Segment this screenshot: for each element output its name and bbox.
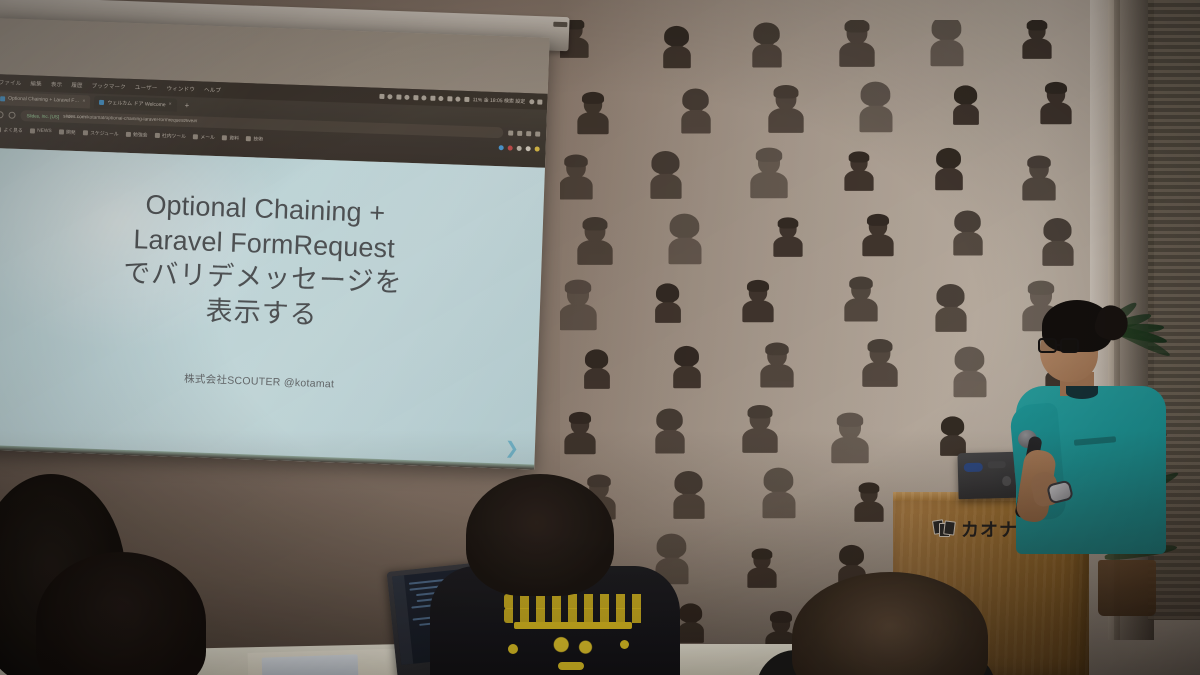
silhouette-hair [765, 342, 789, 355]
menubar-status-text: 11% 金 18:05 検索 設定 [473, 96, 526, 105]
bookmark-label-2: 開発 [66, 128, 76, 135]
menu-item-view[interactable]: 表示 [51, 80, 63, 88]
folder-icon [126, 131, 131, 136]
silhouette-hair [954, 85, 977, 104]
silhouette-hair [583, 217, 608, 231]
silhouette-body [862, 234, 893, 256]
overflow-menu-icon[interactable] [535, 131, 540, 136]
display-icon[interactable] [422, 95, 427, 100]
new-tab-button[interactable]: + [180, 100, 193, 109]
menu-item-window[interactable]: ウィンドウ [166, 84, 195, 93]
bookmark-item-3[interactable]: スケジュール [83, 129, 119, 137]
bookmark-label-7: 資料 [229, 134, 239, 141]
wall-portrait-silhouette [669, 346, 706, 390]
wall-portrait-silhouette [836, 20, 878, 69]
reload-icon[interactable] [8, 111, 15, 118]
wall-portrait-silhouette [1020, 20, 1054, 61]
bookmark-label-5: 社内ツール [162, 132, 186, 140]
extension-icon-5[interactable] [535, 146, 540, 151]
silhouette-hair [1045, 82, 1067, 94]
silhouette-body [742, 300, 773, 322]
silhouette-hair [682, 88, 708, 110]
wall-portrait-silhouette [740, 280, 777, 324]
battery-icon[interactable] [464, 96, 469, 101]
menu-item-edit[interactable]: 編集 [30, 79, 42, 87]
extensions-icon[interactable] [517, 130, 522, 135]
bookmark-item-7[interactable]: 資料 [222, 134, 239, 142]
wall-portrait-silhouette [930, 284, 972, 334]
folder-icon [222, 135, 227, 140]
profile-avatar[interactable] [526, 131, 531, 136]
slide-subtitle: 株式会社SCOUTER @kotamat [0, 364, 537, 399]
silhouette-hair [1028, 281, 1054, 295]
bookmark-item-1[interactable]: NEWS [30, 128, 52, 134]
tab-favicon-slides [0, 96, 5, 101]
silhouette-hair [564, 154, 588, 167]
wall-portrait-silhouette [659, 26, 696, 70]
silhouette-hair [674, 346, 699, 366]
silhouette-body [650, 174, 681, 199]
omnibar-actions [508, 130, 540, 136]
silhouette-hair [585, 349, 608, 368]
silhouette-body [844, 170, 873, 191]
silhouette-hair [861, 82, 891, 106]
wall-portrait-silhouette [948, 347, 992, 400]
silhouette-body [673, 366, 701, 388]
silhouette-body [935, 168, 963, 190]
silhouette-body [750, 172, 787, 198]
bookmark-label-3: スケジュール [90, 129, 119, 137]
wall-portrait-silhouette [676, 88, 715, 135]
extension-icon-2[interactable] [508, 145, 513, 150]
url-path: /kotamat/optional-chaining-laravel-formr… [86, 115, 198, 124]
bookmark-label-0: よく見る [3, 126, 22, 134]
silhouette-hair [955, 347, 985, 371]
folder-icon [59, 129, 64, 134]
silhouette-hair [1043, 218, 1071, 241]
extension-icon-3[interactable] [517, 145, 522, 150]
wall-portrait-silhouette [1038, 82, 1075, 126]
menu-item-profile[interactable]: ユーザー [135, 83, 158, 92]
silhouette-body [584, 368, 610, 389]
bluetooth-icon[interactable] [396, 94, 401, 99]
wall-portrait-silhouette [575, 92, 612, 136]
silhouette-body [1040, 102, 1071, 124]
wall-portrait-silhouette [747, 148, 791, 201]
search-icon[interactable] [529, 99, 534, 104]
wall-portrait-silhouette [1019, 155, 1058, 202]
silhouette-hair [656, 408, 682, 430]
silhouette-hair [936, 148, 961, 168]
silhouette-body [862, 362, 897, 387]
glasses-lens-right [1060, 338, 1079, 353]
silhouette-body [860, 106, 893, 132]
silhouette-body [560, 304, 597, 330]
silhouette-body [760, 364, 793, 388]
tshirt-art-row [504, 594, 644, 609]
silhouette-body [1022, 38, 1051, 59]
menu-item-history[interactable]: 履歴 [71, 81, 83, 89]
wifi-icon[interactable] [456, 96, 461, 101]
housing-end-cap [553, 22, 567, 28]
silhouette-body [839, 42, 874, 67]
silhouette-body [577, 240, 612, 265]
silhouette-hair [670, 214, 700, 238]
silhouette-body [954, 371, 987, 397]
silhouette-hair [774, 85, 799, 99]
tshirt-art-dot [620, 640, 629, 649]
silhouette-body [953, 232, 982, 256]
tshirt-art-bar [514, 622, 632, 629]
silhouette-body [844, 298, 877, 322]
silhouette-hair [569, 412, 591, 424]
wall-portrait-silhouette [854, 82, 898, 135]
wall-portrait-silhouette [747, 22, 786, 69]
silhouette-body [1042, 241, 1073, 266]
silhouette-body [655, 302, 681, 323]
silhouette-hair [753, 22, 779, 44]
extension-icon-1[interactable] [499, 145, 504, 150]
bookmark-label-1: NEWS [37, 128, 52, 134]
glasses-icon [1038, 338, 1084, 354]
silhouette-body [773, 236, 802, 257]
folder-icon [83, 130, 88, 135]
wall-portrait-silhouette [859, 339, 901, 389]
silhouette-hair [756, 148, 782, 162]
menubar-spacer [230, 90, 370, 95]
folder-icon [0, 127, 1, 132]
bookmark-item-5[interactable]: 社内ツール [154, 131, 186, 139]
silhouette-hair [954, 210, 980, 232]
wall-portrait-silhouette [948, 210, 987, 257]
wall-portrait-silhouette [757, 342, 796, 389]
folder-icon [30, 128, 35, 133]
menu-item-file[interactable]: ファイル [0, 78, 22, 87]
vpn-icon[interactable] [439, 95, 444, 100]
silhouette-body [768, 108, 803, 133]
bookmark-item-4[interactable]: 勉強会 [125, 130, 147, 138]
audience-laptop-lid [262, 654, 359, 675]
site-security-label: Slides, Inc. [US] [26, 113, 59, 119]
screenshot-icon[interactable] [413, 95, 418, 100]
wall-portrait-silhouette [560, 280, 600, 333]
wall-portrait-silhouette [925, 20, 969, 68]
presenter-collar [1066, 386, 1098, 399]
bookmark-bar-extras [499, 145, 540, 151]
wall-portrait-silhouette [860, 214, 897, 258]
silhouette-body [560, 176, 593, 200]
bookmark-label-6: メール [200, 133, 215, 141]
slide-title: Optional Chaining + Laravel FormRequest … [0, 182, 544, 340]
tshirt-art-dot [558, 662, 584, 670]
back-icon[interactable] [0, 111, 4, 118]
bookmark-item-6[interactable]: メール [193, 133, 215, 141]
tab-close-icon-2[interactable]: × [169, 101, 172, 107]
browser-tab-active[interactable]: Optional Chaining + Laravel F… × [0, 92, 91, 108]
silhouette-body [931, 40, 964, 66]
tshirt-art-row [504, 608, 644, 623]
presentation-room-photo: ファイル 編集 表示 履歴 ブックマーク ユーザー ウィンドウ ヘルプ [0, 0, 1200, 675]
silhouette-hair [747, 280, 769, 292]
silhouette-hair [664, 26, 689, 46]
silhouette-body [681, 110, 710, 134]
wall-portrait-silhouette [574, 217, 616, 267]
star-icon[interactable] [508, 130, 513, 135]
bookmark-item-0[interactable]: よく見る [0, 126, 23, 134]
silhouette-body [752, 44, 781, 68]
wall-portrait-silhouette [931, 148, 968, 192]
silhouette-hair [932, 20, 962, 40]
wall-portrait-silhouette [645, 151, 687, 201]
tab-title-active: Optional Chaining + Laravel F… [8, 96, 79, 105]
silhouette-body [1022, 177, 1055, 201]
silhouette-body [663, 46, 691, 68]
silhouette-hair [849, 276, 873, 289]
notes-icon[interactable] [447, 96, 452, 101]
keyboard-icon[interactable] [430, 95, 435, 100]
bookmark-label-8: 技術 [253, 135, 263, 142]
tshirt-art-dot [508, 644, 518, 654]
silhouette-hair [778, 217, 799, 228]
wall-portrait-silhouette [771, 217, 805, 258]
silhouette-hair [651, 151, 679, 174]
silhouette-hair [656, 283, 679, 302]
volume-icon[interactable] [405, 94, 410, 99]
tab-title-inactive: ウェルカム ドア Welcome [107, 99, 166, 108]
tab-favicon-twitter [99, 99, 104, 104]
wall-portrait-silhouette [663, 214, 707, 267]
wall-portrait-silhouette [949, 85, 983, 126]
tab-close-icon[interactable]: × [82, 98, 85, 104]
silhouette-hair [565, 280, 591, 294]
projection-screen: ファイル 編集 表示 履歴 ブックマーク ユーザー ウィンドウ ヘルプ [0, 18, 550, 470]
cloud-icon[interactable] [388, 94, 393, 99]
wall-portrait-silhouette [765, 85, 807, 135]
silhouette-hair [1027, 155, 1051, 168]
silhouette-hair [748, 405, 773, 419]
wall-portrait-silhouette [1037, 218, 1079, 268]
address-bar-url: slides.com/kotamat/optional-chaining-lar… [63, 114, 197, 124]
silhouette-body [669, 238, 702, 264]
bookmark-item-8[interactable]: 技術 [246, 135, 263, 143]
folder-icon [193, 134, 198, 139]
silhouette-hair [582, 92, 604, 104]
dropbox-icon[interactable] [379, 93, 384, 98]
folder-icon [246, 136, 251, 141]
bookmark-label-4: 勉強会 [133, 131, 148, 139]
silhouette-hair [936, 284, 964, 307]
wall-portrait-silhouette [842, 151, 876, 192]
silhouette-body [935, 307, 966, 332]
wall-portrait-silhouette [841, 276, 880, 323]
menubar-status-icons: 11% 金 18:05 検索 設定 [379, 92, 547, 105]
silhouette-body [953, 104, 979, 125]
silhouette-hair [837, 413, 863, 427]
browser-tab-inactive[interactable]: ウェルカム ドア Welcome × [94, 95, 177, 111]
presentation-slide[interactable]: Optional Chaining + Laravel FormRequest … [0, 148, 545, 470]
wall-portrait-silhouette [560, 154, 596, 201]
silhouette-hair [867, 214, 889, 226]
silhouette-hair [849, 151, 870, 162]
url-host: slides.com [63, 114, 86, 120]
bookmark-item-2[interactable]: 開発 [58, 128, 75, 136]
silhouette-body [577, 112, 608, 134]
silhouette-hair [1027, 20, 1048, 31]
audience-head-center [466, 474, 614, 596]
folder-icon [154, 132, 159, 137]
menu-item-bookmarks[interactable]: ブックマーク [92, 82, 126, 91]
wall-portrait-silhouette [580, 349, 614, 390]
extension-icon-4[interactable] [526, 146, 531, 151]
control-center-icon[interactable] [537, 99, 542, 104]
silhouette-hair [868, 339, 893, 353]
tshirt-graphic [498, 592, 648, 675]
menu-item-help[interactable]: ヘルプ [204, 86, 221, 95]
silhouette-hair [845, 20, 870, 33]
glasses-lens-left [1038, 338, 1057, 353]
wall-portrait-silhouette [651, 283, 685, 324]
